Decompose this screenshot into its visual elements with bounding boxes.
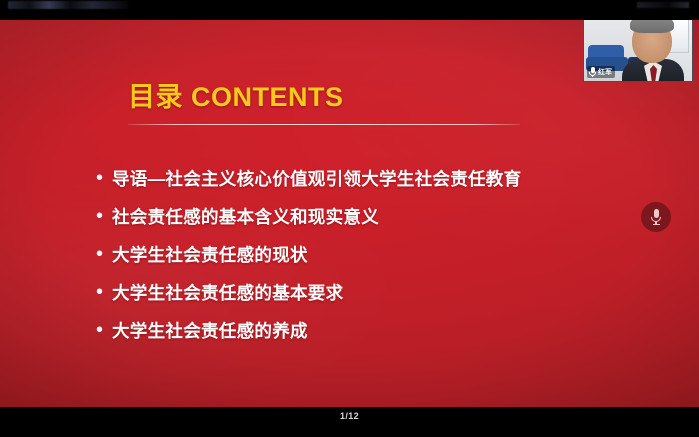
- list-item-label: 导语—社会主义核心价值观引领大学生社会责任教育: [112, 166, 521, 191]
- bullet-icon: •: [96, 244, 112, 264]
- list-item-label: 大学生社会责任感的现状: [112, 242, 308, 267]
- microphone-icon: [651, 209, 662, 225]
- page-indicator: 1/12: [0, 411, 699, 421]
- screen-share-view: 目录 CONTENTS • 导语—社会主义核心价值观引领大学生社会责任教育 • …: [0, 0, 699, 437]
- bullet-icon: •: [96, 206, 112, 226]
- mute-toggle-button[interactable]: [641, 202, 671, 232]
- list-item-label: 大学生社会责任感的养成: [112, 318, 308, 343]
- window-chrome-residue-right: [637, 2, 689, 8]
- bullet-icon: •: [96, 168, 112, 188]
- list-item: • 社会责任感的基本含义和现实意义: [96, 204, 636, 242]
- list-item: • 导语—社会主义核心价值观引领大学生社会责任教育: [96, 166, 636, 204]
- list-item: • 大学生社会责任感的现状: [96, 242, 636, 280]
- participant-name-label: 红军: [598, 69, 612, 76]
- list-item-label: 社会责任感的基本含义和现实意义: [112, 204, 379, 229]
- bullet-icon: •: [96, 320, 112, 340]
- contents-list: • 导语—社会主义核心价值观引领大学生社会责任教育 • 社会责任感的基本含义和现…: [96, 166, 636, 356]
- window-chrome-residue: [8, 1, 128, 9]
- title-divider: [128, 124, 520, 125]
- microphone-icon: [589, 67, 596, 77]
- participant-name-badge: 红军: [587, 66, 615, 78]
- list-item-label: 大学生社会责任感的基本要求: [112, 280, 343, 305]
- participant-video-tile[interactable]: 红军: [583, 12, 693, 82]
- bullet-icon: •: [96, 282, 112, 302]
- slide-title-block: 目录 CONTENTS: [128, 82, 528, 125]
- page-title: 目录 CONTENTS: [128, 82, 528, 113]
- list-item: • 大学生社会责任感的养成: [96, 318, 636, 356]
- list-item: • 大学生社会责任感的基本要求: [96, 280, 636, 318]
